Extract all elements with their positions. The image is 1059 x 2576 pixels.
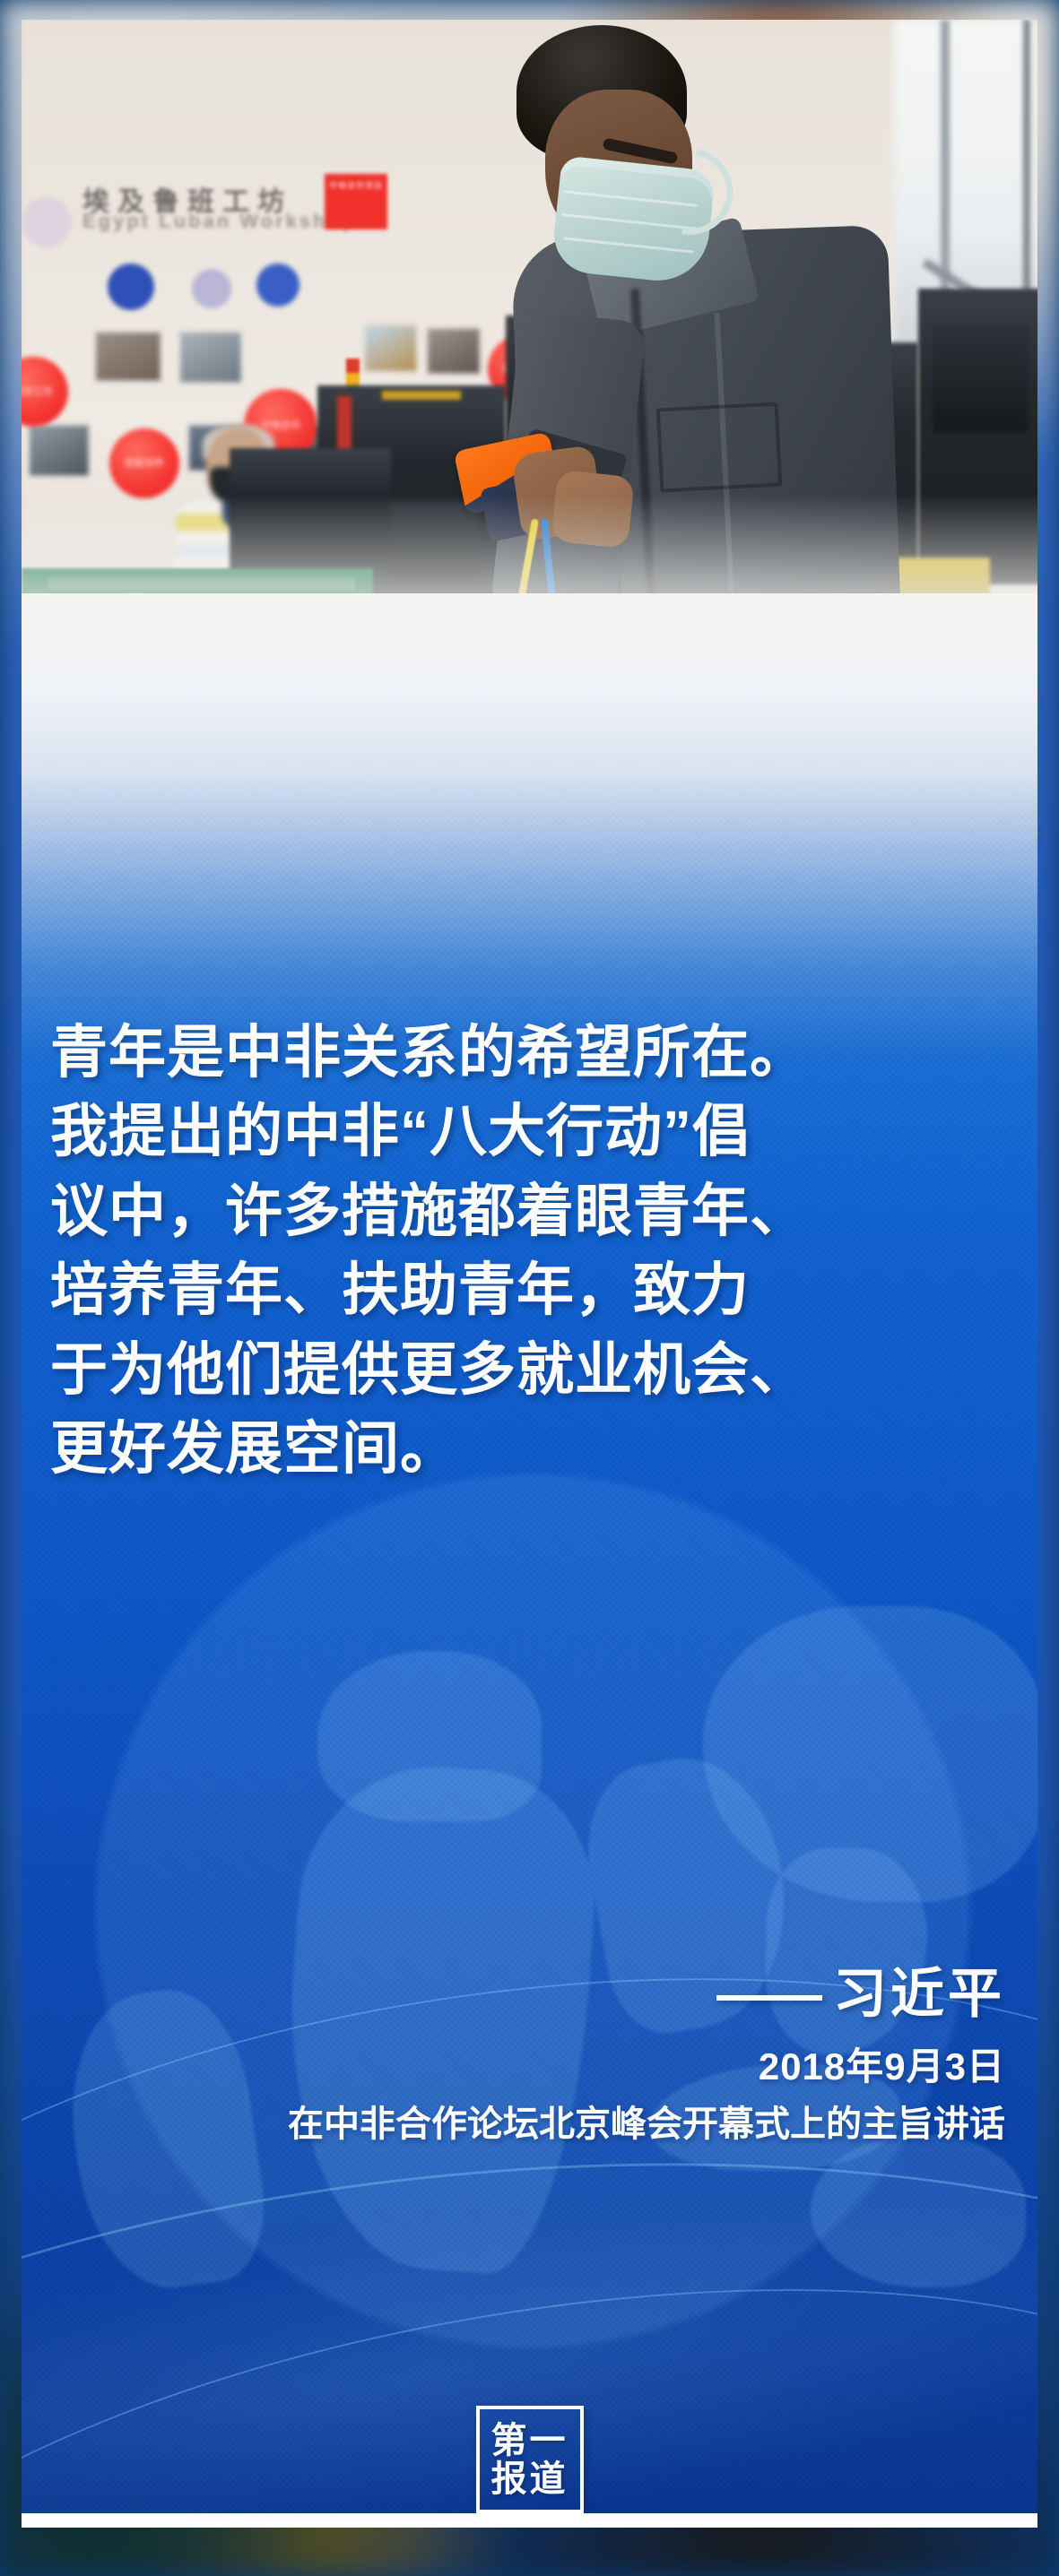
quote-line-3: 议中，许多措施都着眼青年、 [50,1173,1011,1249]
quote-line-1: 青年是中非关系的希望所在。 [50,1015,1011,1090]
brand-logo[interactable]: 第一 报道 [476,2406,584,2513]
quote-line-4: 培养青年、扶助青年，致力 [50,1252,1011,1327]
speaker-line: ——习近平 [288,1965,1005,2024]
blue-panel [22,593,1037,2528]
speech-event: 在中非合作论坛北京峰会开幕式上的主旨讲话 [288,2095,1005,2147]
quote-line-2: 我提出的中非“八大行动”倡 [50,1094,1011,1169]
attribution-block: ——习近平 2018年9月3日 在中非合作论坛北京峰会开幕式上的主旨讲话 [288,1965,1005,2147]
brand-logo-line-2: 报道 [491,2459,569,2498]
worker-pocket [656,402,783,493]
quote-block: 青年是中非关系的希望所在。 我提出的中非“八大行动”倡 议中，许多措施都着眼青年… [50,1015,1011,1491]
mesh-texture [22,593,1037,2528]
brand-logo-line-1: 第一 [491,2421,569,2459]
speaker-name: 习近平 [833,1964,1005,2024]
poster-card: 埃及鲁班工坊 Egypt Luban Workshop 中埃合作项目 鲁班工坊 [22,20,1037,2528]
quote-line-5: 于为他们提供更多就业机会、 [50,1332,1011,1407]
attribution-dash: —— [716,1964,820,2024]
card-bottom-strip [22,2513,1037,2528]
quote-line-6: 更好发展空间。 [50,1411,1011,1486]
speech-date: 2018年9月3日 [288,2036,1005,2091]
